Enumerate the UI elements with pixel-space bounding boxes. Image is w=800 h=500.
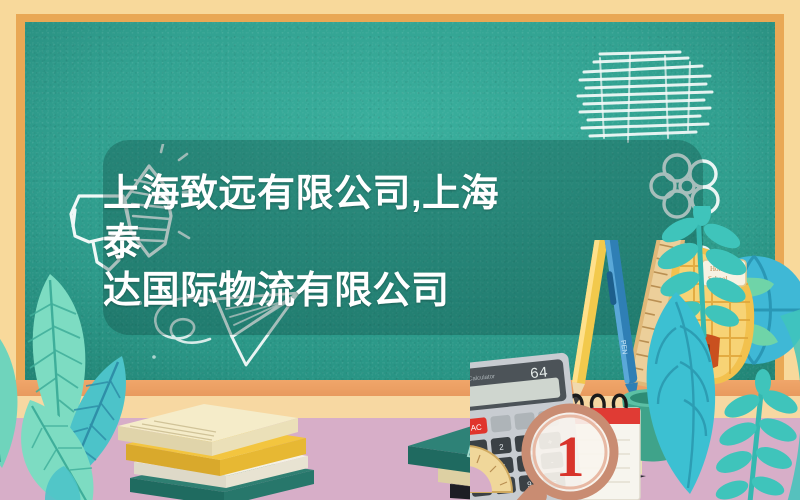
caption-line-1: 上海致远有限公司,上海泰	[103, 170, 533, 267]
backpack: Home School	[670, 246, 754, 393]
poster-canvas: 上海致远有限公司,上海泰 达国际物流有限公司	[0, 0, 800, 500]
svg-text:AC: AC	[470, 423, 482, 433]
svg-text:Home: Home	[710, 265, 727, 273]
calculator-display: 64	[529, 364, 549, 383]
caption-line-2: 达国际物流有限公司	[103, 267, 533, 316]
school-supplies: PEN Home School	[470, 240, 800, 500]
book-stack-left	[108, 396, 338, 500]
pen: PEN	[601, 240, 641, 404]
pencil	[569, 240, 610, 406]
svg-text:School: School	[708, 275, 728, 283]
magnifier-number: 1	[556, 424, 585, 489]
page-title: 上海致远有限公司,上海泰 达国际物流有限公司	[103, 170, 533, 316]
svg-text:PEN: PEN	[619, 340, 628, 355]
